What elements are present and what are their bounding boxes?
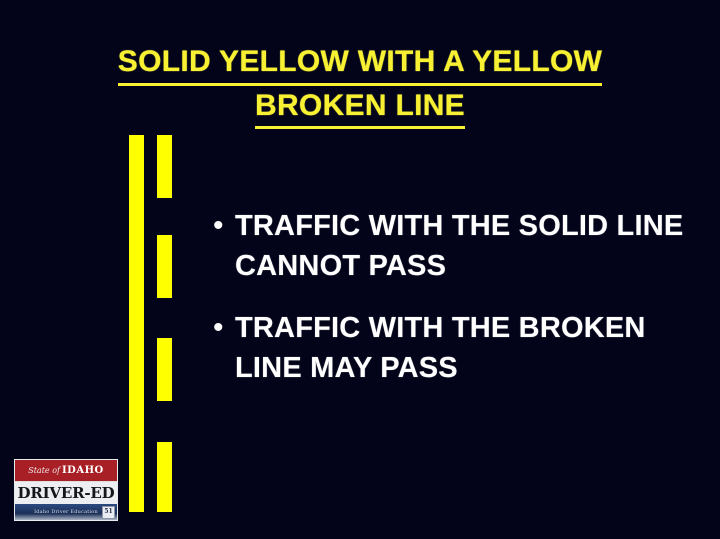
slide-canvas: SOLID YELLOW WITH A YELLOW BROKEN LINE •… [0, 0, 720, 539]
logo-footer: Idaho Driver Education 51 [15, 504, 117, 520]
list-item: • TRAFFIC WITH THE SOLID LINE CANNOT PAS… [213, 206, 693, 286]
logo-script-text: State of [28, 467, 60, 475]
logo-tagline-text: Idaho Driver Education [34, 510, 98, 515]
bullet-dot-icon: • [213, 308, 235, 348]
logo-banner: State of IDAHO [15, 460, 117, 482]
title-line-1: SOLID YELLOW WITH A YELLOW [118, 42, 602, 86]
bullet-list: • TRAFFIC WITH THE SOLID LINE CANNOT PAS… [213, 206, 693, 410]
solid-yellow-line [129, 135, 144, 512]
broken-line-dash [157, 442, 172, 512]
logo-state-name: IDAHO [62, 466, 104, 476]
logo-title-text: DRIVER-ED [18, 486, 115, 501]
list-item: • TRAFFIC WITH THE BROKEN LINE MAY PASS [213, 308, 693, 388]
broken-yellow-line [157, 135, 172, 512]
title-line-2: BROKEN LINE [255, 86, 465, 130]
logo-main: DRIVER-ED [15, 482, 117, 504]
broken-line-dash [157, 235, 172, 298]
bullet-dot-icon: • [213, 206, 235, 246]
broken-line-dash [157, 338, 172, 401]
bullet-text: TRAFFIC WITH THE SOLID LINE CANNOT PASS [235, 206, 693, 286]
broken-line-dash [157, 135, 172, 198]
logo-badge: 51 [102, 506, 115, 519]
page-title: SOLID YELLOW WITH A YELLOW BROKEN LINE [0, 42, 720, 129]
idaho-driver-ed-logo: State of IDAHO DRIVER-ED Idaho Driver Ed… [14, 459, 118, 521]
bullet-text: TRAFFIC WITH THE BROKEN LINE MAY PASS [235, 308, 693, 388]
road-lane-markings-diagram [129, 135, 181, 512]
